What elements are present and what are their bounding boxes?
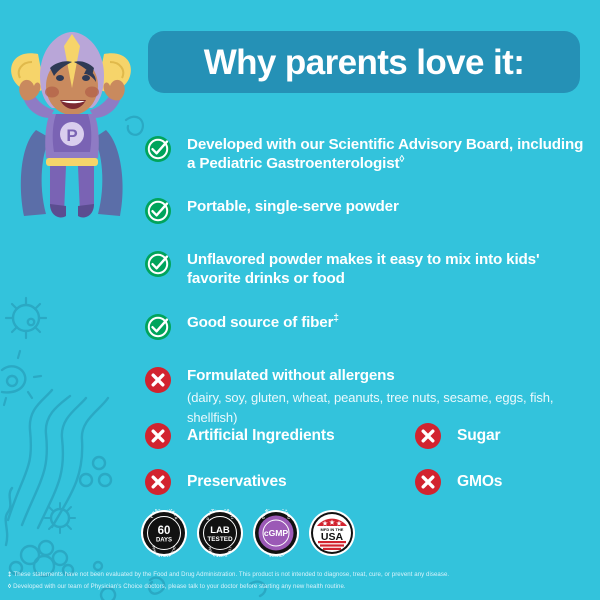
x-circle-icon [143, 467, 173, 497]
svg-text:cGMP: cGMP [264, 528, 289, 538]
footnote-line: ◊Developed with our team of Physician's … [8, 581, 594, 593]
list-item: Formulated without allergens (dairy, soy… [143, 364, 593, 428]
header-banner: Why parents love it: [148, 31, 580, 93]
list-item-label: GMOs [457, 472, 502, 492]
money-back-guarantee-seal: MONEY BACK GUARANTEE 100% SATISFACTION 6… [140, 509, 188, 557]
footnote-text: Developed with our team of Physician's C… [13, 583, 346, 590]
x-circle-icon [413, 421, 443, 451]
x-circle-icon [143, 421, 173, 451]
list-item: Good source of fiber‡ [143, 311, 593, 342]
list-item: Preservatives [143, 467, 413, 497]
exclusions-row: Artificial Ingredients Sugar [143, 421, 593, 451]
kid-superhero-mascot: P [2, 18, 142, 233]
svg-text:USA: USA [321, 531, 344, 543]
cgmp-seal: GOOD MANUFACTURING PRACTICE cGMP [252, 509, 300, 557]
trust-seals: MONEY BACK GUARANTEE 100% SATISFACTION 6… [140, 509, 356, 557]
poster-canvas: P Why parents love it: Developed with ou… [0, 0, 600, 600]
list-item-label: Artificial Ingredients [187, 426, 334, 446]
svg-text:TESTED: TESTED [207, 536, 233, 543]
list-item: Artificial Ingredients [143, 421, 413, 451]
footnote-marker: ‡ [8, 571, 11, 578]
list-item-label: Developed with our Scientific Advisory B… [187, 133, 593, 173]
svg-text:60: 60 [158, 525, 171, 537]
lab-tested-seal: 3RD PARTY CERTIFIED SCIENCE AND QUALITY … [196, 509, 244, 557]
list-item: Developed with our Scientific Advisory B… [143, 133, 593, 173]
x-circle-icon [413, 467, 443, 497]
check-circle-icon [143, 249, 173, 279]
footnote-marker: ◊ [8, 583, 11, 590]
list-item: Portable, single-serve powder [143, 195, 593, 226]
svg-text:LAB: LAB [210, 525, 230, 536]
list-item-label: Good source of fiber‡ [187, 311, 339, 332]
list-item-label: Formulated without allergens (dairy, soy… [187, 364, 593, 428]
exclusions-grid: Artificial Ingredients Sugar Preservativ… [143, 421, 593, 513]
list-item: GMOs [413, 467, 502, 497]
footnotes: ‡These statements have not been evaluate… [8, 569, 594, 592]
list-item-label: Portable, single-serve powder [187, 195, 399, 216]
footnote-text: These statements have not been evaluated… [13, 571, 449, 578]
list-item-label: Unflavored powder makes it easy to mix i… [187, 248, 593, 288]
list-item: Sugar [413, 421, 500, 451]
svg-text:DAYS: DAYS [156, 538, 172, 544]
list-item: Unflavored powder makes it easy to mix i… [143, 248, 593, 288]
page-title: Why parents love it: [204, 45, 525, 80]
list-item-label: Sugar [457, 426, 500, 446]
svg-text:P: P [66, 126, 77, 145]
footnote-marker: ◊ [399, 154, 404, 165]
check-circle-icon [143, 312, 173, 342]
made-in-usa-seal: MFD IN THE USA [308, 509, 356, 557]
list-item-label: Preservatives [187, 472, 287, 492]
benefits-list: Developed with our Scientific Advisory B… [143, 133, 593, 444]
x-circle-icon [143, 365, 173, 395]
check-circle-icon [143, 196, 173, 226]
check-circle-icon [143, 134, 173, 164]
footnote-marker: ‡ [333, 313, 338, 324]
footnote-line: ‡These statements have not been evaluate… [8, 569, 594, 581]
exclusions-row: Preservatives GMOs [143, 467, 593, 497]
